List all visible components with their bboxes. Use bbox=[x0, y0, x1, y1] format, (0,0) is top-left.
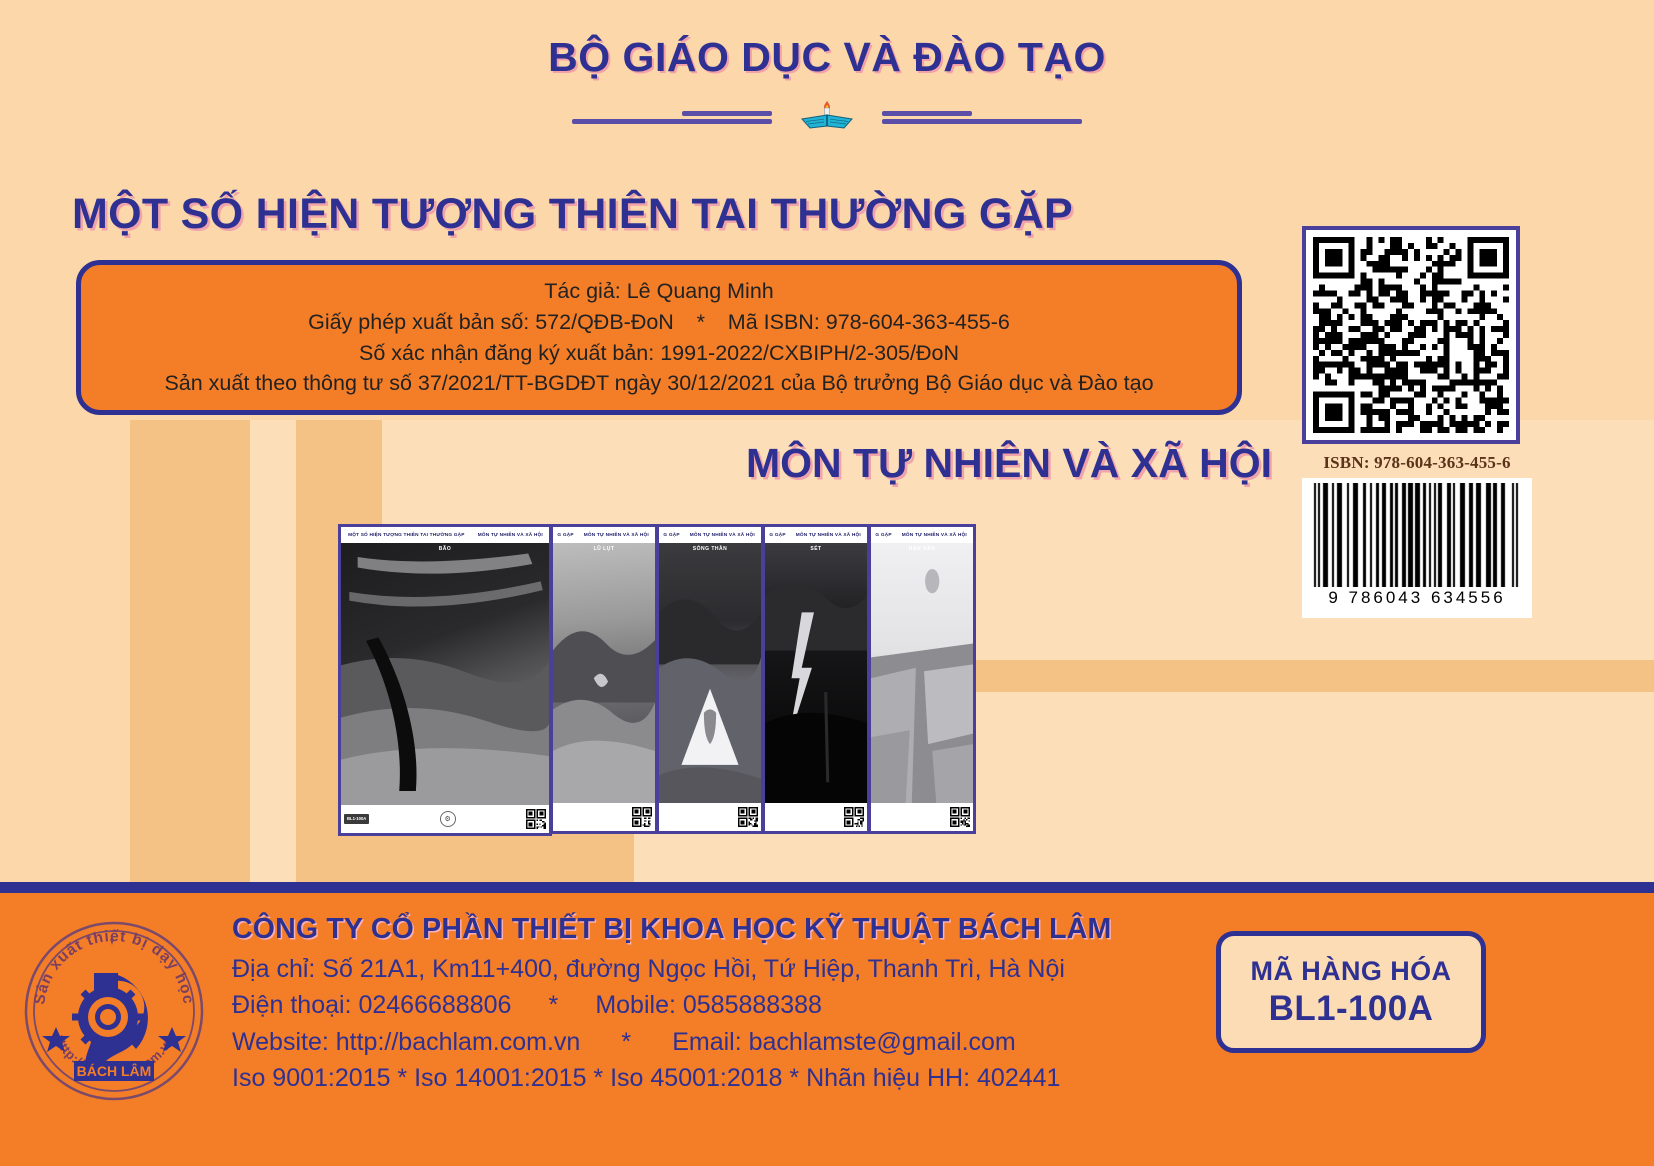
page-title: MỘT SỐ HIỆN TƯỢNG THIÊN TAI THƯỜNG GẶP bbox=[72, 190, 1073, 239]
email-label[interactable]: Email: bachlamste@gmail.com bbox=[672, 1028, 1016, 1056]
license-line: Giấy phép xuất bản số: 572/QĐB-ĐoN * Mã … bbox=[308, 309, 1010, 336]
license-separator: * bbox=[680, 309, 722, 336]
open-book-with-flame-icon bbox=[800, 95, 854, 129]
footer-contact-block: CÔNG TY CỔ PHẦN THIẾT BỊ KHOA HỌC KỸ THU… bbox=[232, 913, 1111, 1096]
bg-band-2 bbox=[250, 420, 296, 890]
bg-band-1 bbox=[130, 420, 250, 890]
mini-card-header-right: MÔN TỰ NHIÊN VÀ XÃ HỘI bbox=[584, 532, 649, 538]
mini-card-header-right: MÔN TỰ NHIÊN VÀ XÃ HỘI bbox=[690, 532, 755, 538]
svg-text:BÁCH LÂM: BÁCH LÂM bbox=[77, 1062, 152, 1079]
license-label: Giấy phép xuất bản số: 572/QĐB-ĐoN bbox=[308, 310, 674, 334]
certifications: Iso 9001:2015 * Iso 14001:2015 * Iso 450… bbox=[232, 1060, 1111, 1096]
mini-card-caption: SÉT bbox=[765, 543, 867, 554]
mini-card-seal-icon: ⚙ bbox=[440, 811, 456, 827]
company-seal-icon: Sản xuất thiết bị dạy học Http://bachlam… bbox=[22, 919, 206, 1103]
mini-card-art-overlay bbox=[659, 543, 761, 803]
mini-card-qr-icon bbox=[738, 807, 758, 827]
mini-card-header-left: G GẶP bbox=[875, 532, 891, 538]
mini-card-qr-icon bbox=[844, 807, 864, 827]
mini-card-artwork: HẠN HÁN bbox=[871, 543, 973, 803]
mini-card-header-right: MÔN TỰ NHIÊN VÀ XÃ HỘI bbox=[478, 532, 543, 538]
mini-card-artwork: LŨ LỤT bbox=[553, 543, 655, 803]
mini-card-product-badge: BL1-100A bbox=[344, 814, 369, 823]
company-phone-row: Điện thoại: 02466688806 * Mobile: 058588… bbox=[232, 987, 1111, 1023]
mini-card-qr-icon bbox=[632, 807, 652, 827]
mini-card-header-left: G GẶP bbox=[557, 532, 573, 538]
qr-code-icon bbox=[1313, 237, 1509, 433]
mini-card-header-left: G GẶP bbox=[769, 532, 785, 538]
footer: Sản xuất thiết bị dạy học Http://bachlam… bbox=[0, 882, 1654, 1166]
divider-line-right-short bbox=[882, 111, 972, 116]
mini-card-3[interactable]: G GẶPMÔN TỰ NHIÊN VÀ XÃ HỘISÓNG THẦN bbox=[656, 524, 764, 834]
mini-card-art-overlay bbox=[765, 543, 867, 803]
circular-line: Sản xuất theo thông tư số 37/2021/TT-BGD… bbox=[164, 370, 1153, 397]
masthead: BỘ GIÁO DỤC VÀ ĐÀO TẠO bbox=[0, 34, 1654, 127]
mobile-label: Mobile: 0585888388 bbox=[595, 991, 822, 1019]
mini-card-artwork: SÉT bbox=[765, 543, 867, 803]
mini-card-header-left: G GẶP bbox=[663, 532, 679, 538]
mini-card-header-left: MỘT SỐ HIỆN TƯỢNG THIÊN TAI THƯỜNG GẶP bbox=[348, 532, 465, 538]
product-code-label: MÃ HÀNG HÓA bbox=[1251, 956, 1452, 987]
isbn-text: ISBN: 978-604-363-455-6 bbox=[1302, 453, 1532, 473]
phone-separator: * bbox=[518, 987, 588, 1023]
company-web-row: Website: http://bachlam.com.vn * Email: … bbox=[232, 1024, 1111, 1060]
divider-line-left-long bbox=[572, 119, 772, 124]
mini-card-footer bbox=[659, 803, 761, 831]
author-line: Tác giả: Lê Quang Minh bbox=[544, 278, 773, 305]
ean13-barcode-icon bbox=[1308, 483, 1526, 587]
mini-card-art-overlay bbox=[871, 543, 973, 803]
mini-card-art-overlay bbox=[341, 543, 549, 805]
mini-card-caption: LŨ LỤT bbox=[553, 543, 655, 554]
barcode-block: 9 786043 634556 bbox=[1302, 478, 1532, 618]
company-name: CÔNG TY CỔ PHẦN THIẾT BỊ KHOA HỌC KỸ THU… bbox=[232, 913, 1111, 946]
mini-card-header: G GẶPMÔN TỰ NHIÊN VÀ XÃ HỘI bbox=[765, 527, 867, 543]
mini-card-footer bbox=[871, 803, 973, 831]
mini-card-artwork: SÓNG THẦN bbox=[659, 543, 761, 803]
publication-info-box: Tác giả: Lê Quang Minh Giấy phép xuất bả… bbox=[76, 260, 1242, 415]
mini-card-5[interactable]: G GẶPMÔN TỰ NHIÊN VÀ XÃ HỘIHẠN HÁN bbox=[868, 524, 976, 834]
mini-card-caption: HẠN HÁN bbox=[871, 543, 973, 554]
website-separator: * bbox=[587, 1024, 665, 1060]
mini-card-header: G GẶPMÔN TỰ NHIÊN VÀ XÃ HỘI bbox=[659, 527, 761, 543]
company-address: Địa chỉ: Số 21A1, Km11+400, đường Ngọc H… bbox=[232, 951, 1111, 987]
mini-card-header-right: MÔN TỰ NHIÊN VÀ XÃ HỘI bbox=[796, 532, 861, 538]
poster-page: BỘ GIÁO DỤC VÀ ĐÀO TẠO MỘT SỐ HIỆN TƯỢNG… bbox=[0, 0, 1654, 1166]
mini-card-caption: BÃO bbox=[341, 543, 549, 554]
mini-card-2[interactable]: G GẶPMÔN TỰ NHIÊN VÀ XÃ HỘILŨ LỤT bbox=[550, 524, 658, 834]
ministry-title: BỘ GIÁO DỤC VÀ ĐÀO TẠO bbox=[0, 34, 1654, 81]
registration-line: Số xác nhận đăng ký xuất bản: 1991-2022/… bbox=[359, 340, 959, 367]
phone-label: Điện thoại: 02466688806 bbox=[232, 991, 511, 1019]
product-code-badge: MÃ HÀNG HÓA BL1-100A bbox=[1216, 931, 1486, 1053]
mini-card-qr-icon bbox=[950, 807, 970, 827]
mini-card-header: MỘT SỐ HIỆN TƯỢNG THIÊN TAI THƯỜNG GẶPMÔ… bbox=[341, 527, 549, 543]
mini-card-header: G GẶPMÔN TỰ NHIÊN VÀ XÃ HỘI bbox=[553, 527, 655, 543]
qr-code-frame bbox=[1302, 226, 1520, 444]
isbn-label: Mã ISBN: 978-604-363-455-6 bbox=[728, 310, 1010, 334]
product-card-strip: MỘT SỐ HIỆN TƯỢNG THIÊN TAI THƯỜNG GẶPMÔ… bbox=[338, 524, 976, 836]
mini-card-footer bbox=[765, 803, 867, 831]
divider-line-right-long bbox=[882, 119, 1082, 124]
masthead-divider bbox=[572, 93, 1082, 127]
divider-line-left-short bbox=[682, 111, 772, 116]
barcode-digits: 9 786043 634556 bbox=[1328, 588, 1505, 608]
mini-card-art-overlay bbox=[553, 543, 655, 803]
mini-card-artwork: BÃO bbox=[341, 543, 549, 805]
mini-card-footer bbox=[553, 803, 655, 831]
mini-card-4[interactable]: G GẶPMÔN TỰ NHIÊN VÀ XÃ HỘISÉT bbox=[762, 524, 870, 834]
product-code-value: BL1-100A bbox=[1269, 989, 1434, 1029]
mini-card-caption: SÓNG THẦN bbox=[659, 543, 761, 554]
mini-card-qr-icon bbox=[526, 809, 546, 829]
website-label[interactable]: Website: http://bachlam.com.vn bbox=[232, 1028, 580, 1056]
code-column: ISBN: 978-604-363-455-6 9 786043 634556 bbox=[1302, 226, 1532, 618]
mini-card-footer: BL1-100A⚙ bbox=[341, 805, 549, 833]
mini-card-header-right: MÔN TỰ NHIÊN VÀ XÃ HỘI bbox=[902, 532, 967, 538]
mini-card-header: G GẶPMÔN TỰ NHIÊN VÀ XÃ HỘI bbox=[871, 527, 973, 543]
mini-card-1[interactable]: MỘT SỐ HIỆN TƯỢNG THIÊN TAI THƯỜNG GẶPMÔ… bbox=[338, 524, 552, 836]
subject-title: MÔN TỰ NHIÊN VÀ XÃ HỘI bbox=[746, 440, 1272, 487]
